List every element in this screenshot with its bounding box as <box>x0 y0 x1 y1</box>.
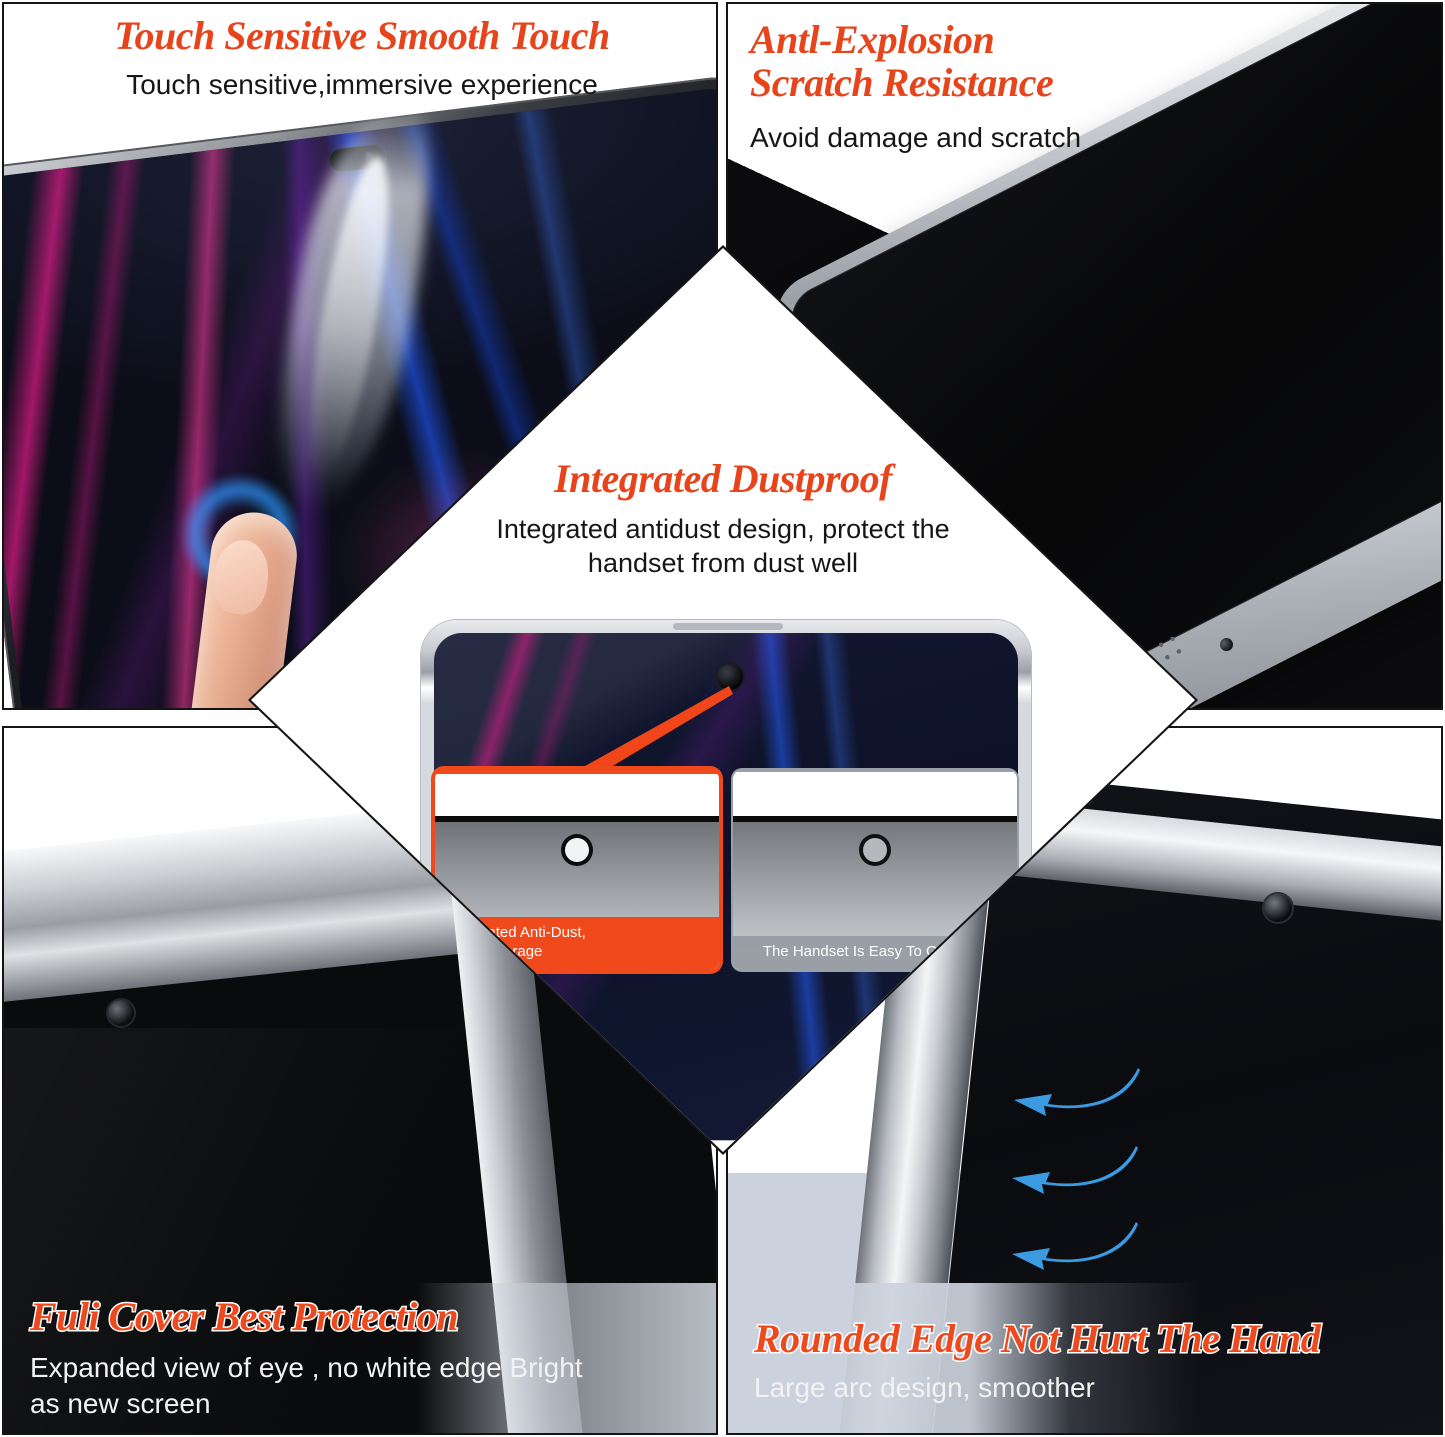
pointer-line-icon <box>583 678 733 773</box>
panel-full-cover-title: Fuli Cover Best Protection <box>30 1295 690 1338</box>
diamond-body: Integrated Anti-Dust, Full Coverage The … <box>251 248 1195 1152</box>
panel-dustproof-title: Integrated Dustproof <box>248 457 1198 500</box>
panel-integrated-dustproof: Integrated Anti-Dust, Full Coverage The … <box>248 245 1198 1155</box>
panel-scratch-text: Antl-Explosion Scratch Resistance Avoid … <box>750 18 1220 156</box>
card-camera-hole-icon <box>565 838 589 862</box>
card-white-strip <box>435 774 719 816</box>
phone-dust-body: Integrated Anti-Dust, Full Coverage The … <box>421 620 1031 1140</box>
panel-full-cover-subtitle: Expanded view of eye , no white edge Bri… <box>30 1350 690 1421</box>
earpiece-slot <box>673 623 783 630</box>
panel-rounded-edge-text: Rounded Edge Not Hurt The Hand Large arc… <box>754 1317 1434 1405</box>
panel-rounded-edge-subtitle: Large arc design, smoother <box>754 1370 1434 1405</box>
card-white-strip <box>733 772 1017 816</box>
side-camera-dot-icon <box>1218 636 1235 653</box>
card-easy-dust: The Handset Is Easy To Get Dust <box>733 770 1017 970</box>
curve-arrow-icon <box>1010 1218 1140 1270</box>
panel-scratch-subtitle: Avoid damage and scratch <box>750 120 1220 155</box>
panel-scratch-title: Antl-Explosion Scratch Resistance <box>750 18 1220 104</box>
panel-touch-text: Touch Sensitive Smooth Touch Touch sensi… <box>4 14 718 102</box>
card-anti-dust-label: Integrated Anti-Dust, Full Coverage <box>435 917 719 970</box>
card-easy-dust-label: The Handset Is Easy To Get Dust <box>733 936 1017 970</box>
card-camera-hole-icon <box>863 838 887 862</box>
dust-comparison-cards: Integrated Anti-Dust, Full Coverage The … <box>435 770 1017 980</box>
panel-full-cover-text: Fuli Cover Best Protection Expanded view… <box>30 1295 690 1421</box>
panel-rounded-edge-title: Rounded Edge Not Hurt The Hand <box>754 1317 1434 1360</box>
panel-touch-subtitle: Touch sensitive,immersive experience <box>4 67 718 102</box>
edge-camera-dot-icon <box>1264 894 1292 922</box>
infographic-stage: Touch Sensitive Smooth Touch Touch sensi… <box>0 0 1445 1437</box>
panel-dustproof-text: Integrated Dustproof Integrated antidust… <box>248 457 1198 580</box>
panel-dustproof-subtitle: Integrated antidust design, protect the … <box>248 512 1198 580</box>
panel-touch-title: Touch Sensitive Smooth Touch <box>4 14 718 57</box>
card-anti-dust: Integrated Anti-Dust, Full Coverage <box>435 770 719 970</box>
